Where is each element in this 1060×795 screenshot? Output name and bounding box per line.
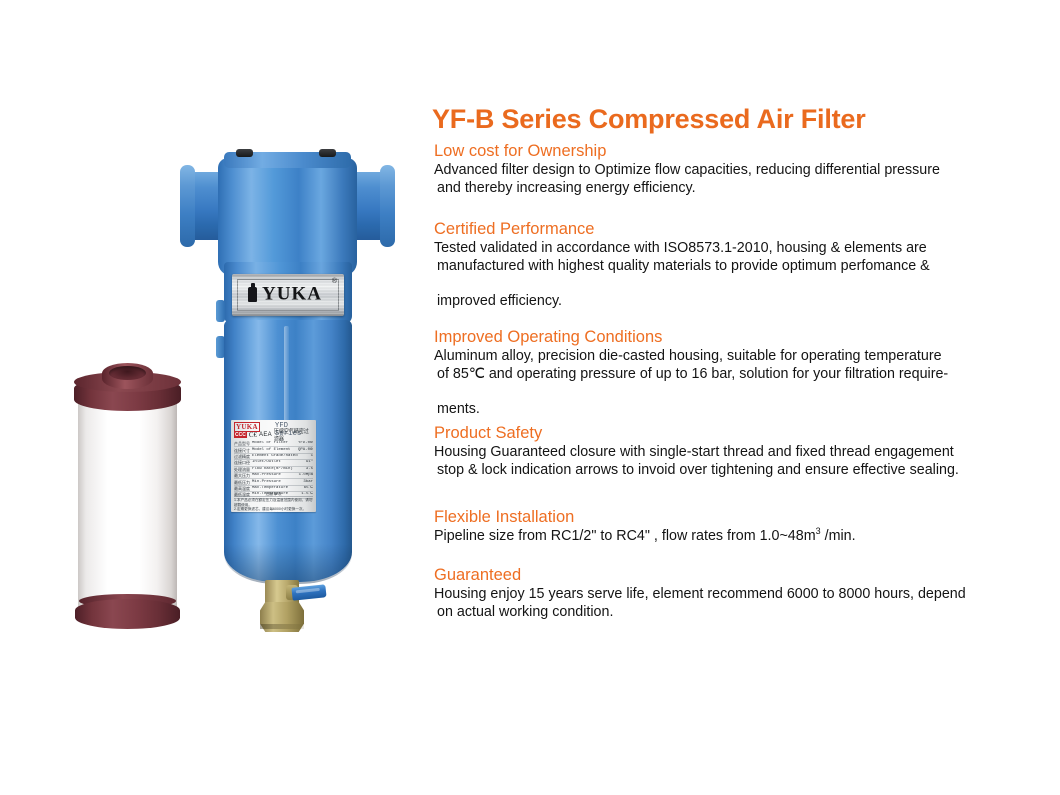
spec-label-table: 产品型号Model of FilterYFD-060连接尺寸Model of E… bbox=[234, 441, 313, 491]
drain-valve-nut-shadow bbox=[260, 624, 304, 629]
feature-heading: Certified Performance bbox=[434, 220, 1038, 239]
spec-table-cell: Inlet/Outlet bbox=[252, 460, 298, 465]
spec-table-cell: Element Grade/Rated bbox=[252, 454, 298, 459]
spec-table-cell: 处理流量 bbox=[234, 467, 252, 472]
spec-label-subtitle: 压缩空气精密过滤器 bbox=[274, 427, 313, 442]
spec-table-cell: 最大压力 bbox=[234, 473, 252, 478]
spec-table-cell: 产品型号 bbox=[234, 441, 252, 446]
feature-heading: Guaranteed bbox=[434, 566, 1038, 585]
housing-head-casting bbox=[218, 158, 357, 276]
spec-note-item: 1.本产品必须在额定压力及温度范围内使用，请勿超载使用。 bbox=[234, 498, 313, 507]
feature-block: Low cost for OwnershipAdvanced filter de… bbox=[430, 142, 1038, 197]
feature-heading: Low cost for Ownership bbox=[434, 142, 1038, 161]
feature-body: Advanced filter design to Optimize flow … bbox=[430, 162, 1038, 197]
feature-heading: Flexible Installation bbox=[434, 508, 1038, 527]
manual-drain-valve bbox=[252, 580, 332, 646]
spec-table-cell: Model of Element bbox=[252, 448, 298, 453]
feature-heading: Product Safety bbox=[434, 424, 1038, 443]
spec-table-cell: 连接尺寸 bbox=[234, 448, 252, 453]
spec-table-cell: Model of Filter bbox=[252, 441, 298, 446]
yuka-logo-icon bbox=[248, 287, 257, 302]
spec-notes-list: 1.本产品必须在额定压力及温度范围内使用，请勿超载使用。2.定期更换滤芯，建议每… bbox=[234, 498, 313, 512]
feature-body: Pipeline size from RC1/2" to RC4" , flow… bbox=[430, 528, 1038, 546]
outlet-flange-rim bbox=[380, 165, 395, 247]
inlet-flange-rim bbox=[180, 165, 195, 247]
spec-table-cell: YFD-060 bbox=[298, 441, 313, 446]
spec-table-cell: Flow Rate(m³/min) bbox=[252, 467, 298, 472]
gauge-plug-icon bbox=[319, 149, 336, 157]
element-bottom-end-cap bbox=[75, 599, 180, 629]
spec-note-item: 2.定期更换滤芯，建议每6000小时更换一次。 bbox=[234, 507, 313, 511]
port-plug-icon bbox=[236, 149, 253, 157]
spec-table-cell: 最高温度 bbox=[234, 486, 252, 491]
filter-housing: YUKA ® YUKA YFD Series CCC C€ AEA 压缩空气精密… bbox=[180, 152, 395, 652]
spec-table-cell: 过滤精度 bbox=[234, 454, 252, 459]
feature-body: Housing Guaranteed closure with single-s… bbox=[430, 444, 1038, 479]
page-title: YF-B Series Compressed Air Filter bbox=[432, 104, 866, 135]
ccc-mark-icon: CCC bbox=[234, 432, 247, 438]
drain-valve-lever-handle bbox=[291, 584, 326, 600]
spec-table-cell: 65℃ bbox=[298, 486, 313, 491]
element-media-body bbox=[78, 385, 177, 613]
feature-body: Tested validated in accordance with ISO8… bbox=[430, 240, 1038, 310]
feature-block: Flexible InstallationPipeline size from … bbox=[430, 508, 1038, 546]
feature-body: Housing enjoy 15 years serve life, eleme… bbox=[430, 586, 1038, 621]
product-description-panel: YF-B Series Compressed Air Filter Low co… bbox=[430, 0, 1040, 795]
spec-table-cell: 1.0Mpa bbox=[298, 473, 313, 478]
ce-mark-icon: C€ bbox=[249, 431, 257, 439]
feature-heading: Improved Operating Conditions bbox=[434, 328, 1038, 347]
registered-trademark-icon: ® bbox=[332, 278, 337, 285]
spec-table-cell: 3bar bbox=[298, 480, 313, 485]
feature-block: GuaranteedHousing enjoy 15 years serve l… bbox=[430, 566, 1038, 621]
spec-table-cell: 1 bbox=[298, 454, 313, 459]
spec-label-notes: 注意事项 1.本产品必须在额定压力及温度范围内使用，请勿超载使用。2.定期更换滤… bbox=[234, 492, 313, 512]
filter-element-cartridge bbox=[70, 363, 185, 635]
spec-label-certifications: CCC C€ AEA 压缩空气精密过滤器 bbox=[234, 431, 313, 438]
brand-nameplate: YUKA ® bbox=[232, 274, 344, 316]
feature-block: Improved Operating ConditionsAluminum al… bbox=[430, 328, 1038, 418]
spec-table-cell: 连接口径 bbox=[234, 460, 252, 465]
element-collar-bore bbox=[109, 366, 146, 380]
spec-table-cell: 最低压力 bbox=[234, 480, 252, 485]
product-photo: YUKA ® YUKA YFD Series CCC C€ AEA 压缩空气精密… bbox=[0, 0, 420, 795]
aea-mark-icon: AEA bbox=[259, 432, 272, 438]
housing-mount-lug-top bbox=[216, 300, 225, 322]
spec-table-cell: 3.5 bbox=[298, 467, 313, 472]
spec-table-cell: Max.Pressure bbox=[252, 473, 298, 478]
feature-body: Aluminum alloy, precision die-casted hou… bbox=[430, 348, 1038, 418]
spec-table-cell: G1″ bbox=[298, 460, 313, 465]
feature-block: Certified PerformanceTested validated in… bbox=[430, 220, 1038, 310]
spec-table-cell: QPA-060-HC bbox=[298, 448, 313, 453]
specification-label: YUKA YFD Series CCC C€ AEA 压缩空气精密过滤器 产品型… bbox=[231, 420, 316, 512]
feature-block: Product SafetyHousing Guaranteed closure… bbox=[430, 424, 1038, 479]
spec-table-cell: Min.Pressure bbox=[252, 480, 298, 485]
spec-notes-title: 注意事项 bbox=[234, 492, 313, 497]
spec-table-cell: Max.Temperature bbox=[252, 486, 298, 491]
